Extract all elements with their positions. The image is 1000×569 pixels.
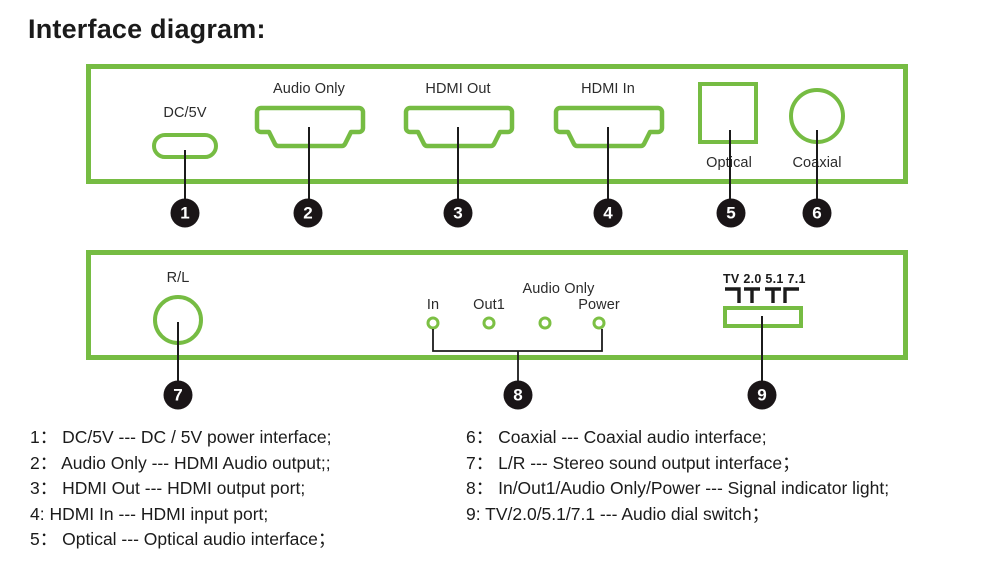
led-label-audio-only-text: Audio Only — [523, 282, 568, 297]
callout-badge-1: 1 — [171, 199, 200, 228]
callout-badge-2: 2 — [294, 199, 323, 228]
led-label-power: Power — [578, 297, 620, 313]
port-label-dc5v: DC/5V — [163, 105, 206, 121]
leader-line-5 — [729, 130, 731, 200]
led-indicator-out1 — [483, 317, 496, 330]
leader-line-6 — [816, 130, 818, 200]
legend-item-6: 6： Coaxial --- Coaxial audio interface; — [466, 425, 889, 451]
callout-badge-6: 6 — [803, 199, 832, 228]
callout-badge-3: 3 — [444, 199, 473, 228]
port-label-hdmi-in: HDMI In — [581, 81, 635, 97]
legend-item-7: 7： L/R --- Stereo sound output interface… — [466, 451, 889, 477]
legend-item-5: 5： Optical --- Optical audio interface； — [30, 527, 335, 553]
dial-switch-position-marks — [723, 287, 801, 305]
leader-line-2 — [308, 127, 310, 200]
port-audio-only-hdmi[interactable] — [253, 104, 367, 150]
legend-right-column: 6： Coaxial --- Coaxial audio interface; … — [466, 425, 889, 527]
led-indicator-audio-only — [539, 317, 552, 330]
leader-line-7 — [177, 322, 179, 382]
led-indicator-power — [593, 317, 606, 330]
interface-diagram-page: Interface diagram: DC/5V 1 Audio Only 2 … — [0, 0, 1000, 569]
callout-badge-9: 9 — [748, 381, 777, 410]
callout-badge-8: 8 — [504, 381, 533, 410]
callout-badge-4: 4 — [594, 199, 623, 228]
port-hdmi-in[interactable] — [552, 104, 666, 150]
led-indicator-in — [427, 317, 440, 330]
port-label-rl: R/L — [167, 270, 190, 286]
port-label-audio-only: Audio Only — [273, 81, 345, 97]
leader-line-1 — [184, 150, 186, 200]
legend-item-4: 4: HDMI In --- HDMI input port; — [30, 502, 335, 528]
led-label-audio-only: Audio Only — [523, 282, 568, 297]
legend-item-8: 8： In/Out1/Audio Only/Power --- Signal i… — [466, 476, 889, 502]
port-hdmi-out[interactable] — [402, 104, 516, 150]
leader-line-3 — [457, 127, 459, 200]
legend-item-9: 9: TV/2.0/5.1/7.1 --- Audio dial switch； — [466, 502, 889, 528]
led-label-out1: Out1 — [473, 297, 505, 313]
port-label-hdmi-out: HDMI Out — [425, 81, 490, 97]
port-optical[interactable] — [698, 82, 758, 144]
leader-line-9 — [761, 316, 763, 382]
callout-badge-7: 7 — [164, 381, 193, 410]
legend-item-3: 3： HDMI Out --- HDMI output port; — [30, 476, 335, 502]
page-title: Interface diagram: — [28, 14, 266, 45]
callout-badge-5: 5 — [717, 199, 746, 228]
legend-item-1: 1： DC/5V --- DC / 5V power interface; — [30, 425, 335, 451]
dial-switch-tick-labels: TV 2.0 5.1 7.1 — [723, 272, 806, 286]
led-label-in: In — [427, 297, 439, 313]
leader-line-4 — [607, 127, 609, 200]
legend-left-column: 1： DC/5V --- DC / 5V power interface; 2：… — [30, 425, 335, 553]
dial-switch-body[interactable] — [723, 306, 803, 328]
legend-item-2: 2： Audio Only --- HDMI Audio output;; — [30, 451, 335, 477]
